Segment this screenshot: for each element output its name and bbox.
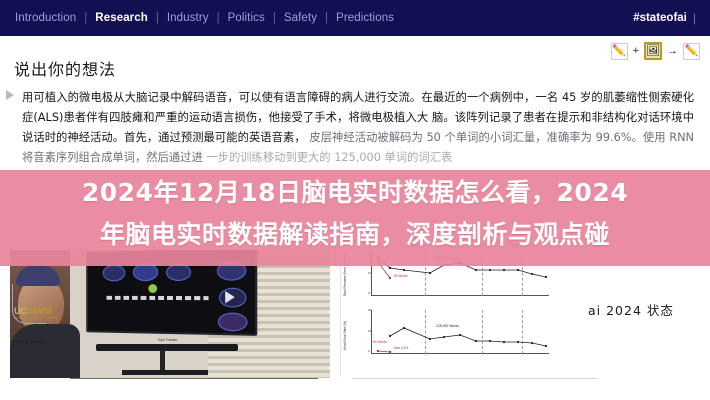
bci-headstage	[16, 266, 60, 286]
overlay-text: 2024年12月18日脑电实时数据怎么看，2024 年脑电实时数据解读指南，深度…	[0, 172, 710, 256]
ytick-top-1: 10	[368, 271, 371, 275]
nav-item-list: Introduction | Research | Industry | Pol…	[14, 12, 395, 24]
plus-icon: +	[632, 45, 640, 57]
ucdavis-logo: UCDAVIS	[14, 306, 52, 316]
overlay-line-2: 年脑电实时数据解读指南，深度剖析与观点碰	[0, 214, 710, 256]
ytick-top-0: 0	[368, 291, 370, 295]
body-line-5: 一步的训练移动到更大的 125,000 单词的词汇表	[206, 151, 452, 164]
monitor-base	[122, 370, 208, 375]
right-caption: ai 2024 状态	[588, 300, 674, 319]
pencil-icon[interactable]: ✏️	[611, 43, 628, 60]
screen-button	[218, 313, 248, 332]
slide-title: 说出你的想法	[14, 56, 116, 80]
divider-left	[70, 378, 318, 379]
ytick-bottom-1: 15	[368, 329, 371, 333]
screen-indicator-dot	[148, 284, 157, 293]
nav-item-politics[interactable]: Politics	[227, 12, 266, 24]
slide-body-text: 用可植入的微电极从大脑记录中解码语音，可以使有语言障碍的病人进行交流。在最近的一…	[22, 88, 694, 168]
screenshot-root: Introduction | Research | Industry | Pol…	[0, 0, 710, 400]
nav-item-predictions[interactable]: Predictions	[335, 12, 395, 24]
chart-ylabel-bottom: Word Error Rate (%)	[343, 310, 347, 350]
hashtag-stateofai[interactable]: #stateofai	[633, 12, 687, 24]
nav-separator: |	[318, 12, 335, 24]
nav-trailing-bar: |	[693, 11, 696, 25]
participant-body	[10, 324, 80, 378]
nav-separator: |	[77, 12, 94, 24]
nav-item-industry[interactable]: Industry	[166, 12, 210, 24]
photo-annotation-left: Recording Headstage	[12, 340, 45, 344]
nav-right-group: #stateofai |	[633, 11, 696, 25]
annotation-50-words-top: 50 Words	[394, 274, 408, 278]
ucdavis-logo-sub: UNIVERSITY OF CALIFORNIA	[14, 316, 58, 320]
overlay-line-1: 2024年12月18日脑电实时数据怎么看，2024	[0, 172, 710, 214]
image-icon[interactable]: 🖼	[644, 42, 662, 60]
top-navbar: Introduction | Research | Industry | Pol…	[0, 0, 710, 36]
ucdavis-logo-prefix: UC	[14, 306, 26, 316]
chart-plot-area-bottom: 30 15 0 50 Words	[371, 310, 549, 354]
nav-separator: |	[266, 12, 283, 24]
pencil-icon-2[interactable]: ✏️	[683, 43, 700, 60]
bullet-triangle-icon	[6, 90, 14, 100]
nav-separator: |	[210, 12, 227, 24]
ytick-bottom-2: 30	[368, 308, 371, 312]
annotation-max-bottom: Max 0.4%	[394, 346, 408, 350]
nav-separator: |	[149, 12, 166, 24]
screen-text-line	[106, 296, 208, 300]
chart-panel: Raw Phoneme Error Rate (%) 20 10 0 Vocab…	[340, 248, 555, 376]
play-icon	[225, 291, 235, 303]
ucdavis-logo-main: DAVIS	[26, 306, 51, 316]
ytick-bottom-0: 0	[368, 349, 370, 353]
nav-item-introduction[interactable]: Introduction	[14, 12, 77, 24]
arrow-right-icon: →	[666, 45, 679, 57]
body-line-1: 用可植入的微电极从大脑记录中解码语音，可以使有语言障碍的病人进行交流。在最近的一…	[22, 91, 558, 104]
divider-right	[352, 378, 598, 379]
annotation-125000-words-bottom: 125,000 Words	[436, 324, 459, 328]
eye-tracker-device	[96, 344, 238, 351]
annotation-50-words-bottom: 50 Words	[373, 340, 387, 344]
nav-item-safety[interactable]: Safety	[283, 12, 318, 24]
eye-tracker-label: Eye Tracker	[82, 338, 254, 342]
screen-button	[166, 264, 191, 281]
slide-toolbar: ✏️ + 🖼 → ✏️	[611, 42, 700, 60]
nav-item-research[interactable]: Research	[94, 12, 149, 24]
screen-button	[103, 265, 126, 282]
